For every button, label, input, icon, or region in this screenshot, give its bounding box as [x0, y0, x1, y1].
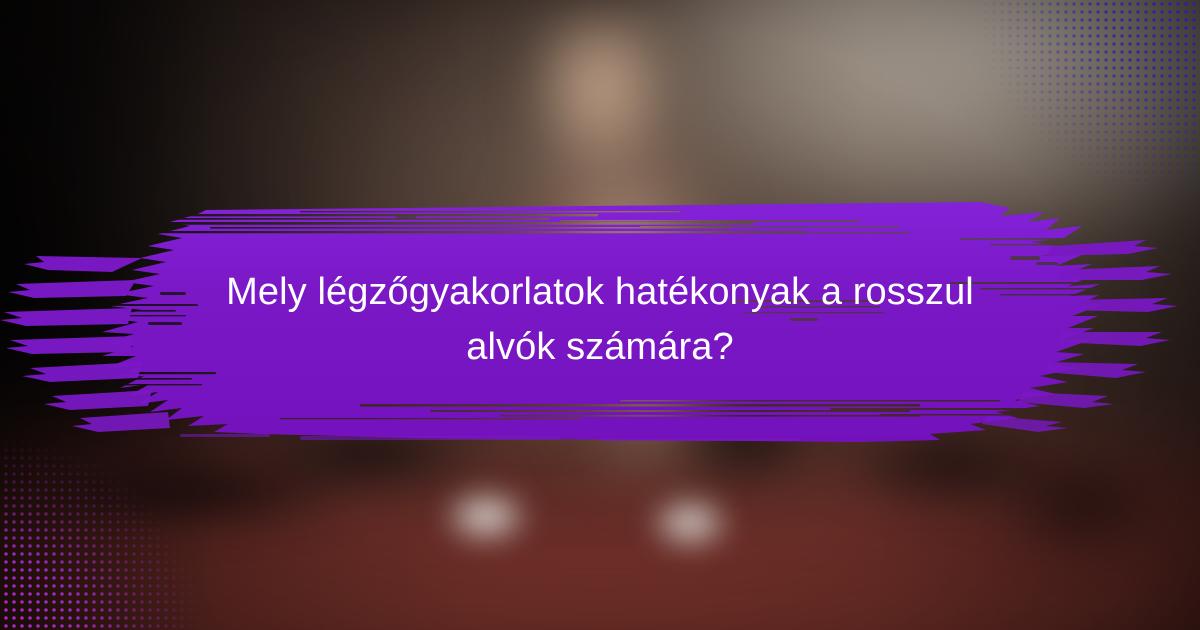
share-card: Mely légzőgyakorlatok hatékonyak a rossz…	[0, 0, 1200, 630]
headline-title: Mely légzőgyakorlatok hatékonyak a rossz…	[210, 265, 990, 374]
headline-container: Mely légzőgyakorlatok hatékonyak a rossz…	[0, 196, 1200, 444]
